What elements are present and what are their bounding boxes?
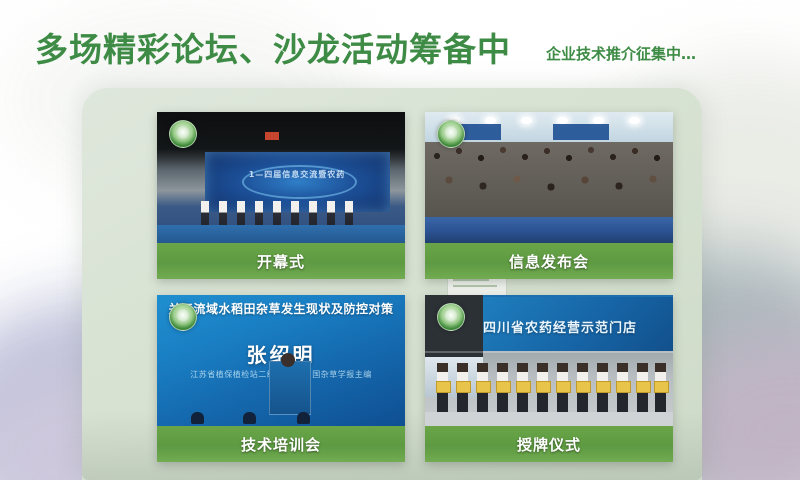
conference-emblem-icon <box>169 120 197 148</box>
conference-emblem-icon <box>169 303 197 331</box>
photo-opening-ceremony: 1—四届信息交流暨农药 <box>157 112 405 243</box>
award-recipients-row <box>425 351 673 413</box>
stage-front-banner <box>157 225 405 243</box>
photo-gallery-grid: 1—四届信息交流暨农药 开幕式 信息发布会 <box>157 112 673 462</box>
gallery-item-plaque-award[interactable]: 四川省农药经营示范门店 授牌仪式 <box>425 295 673 462</box>
conference-emblem-icon <box>437 303 465 331</box>
gallery-caption: 信息发布会 <box>425 243 673 279</box>
page-title: 多场精彩论坛、沙龙活动筹备中 <box>35 28 511 72</box>
stage-floor <box>425 412 673 426</box>
projected-slide-title: 关江流域水稻田杂草发生现状及防控对策 <box>165 301 397 317</box>
stage-people-row <box>201 199 361 225</box>
audience-head-silhouettes <box>157 410 405 424</box>
photo-plaque-award: 四川省农药经营示范门店 <box>425 295 673 426</box>
lectern <box>269 361 311 415</box>
gallery-caption: 授牌仪式 <box>425 426 673 462</box>
photo-information-release <box>425 112 673 243</box>
page-subtitle: 企业技术推介征集中… <box>546 42 696 66</box>
gallery-caption: 开幕式 <box>157 243 405 279</box>
led-screen-text: 1—四届信息交流暨农药 <box>209 169 385 180</box>
slide-header: 多场精彩论坛、沙龙活动筹备中 企业技术推介征集中… <box>0 28 800 80</box>
stage-banner-text: 四川省农药经营示范门店 <box>483 317 673 336</box>
gallery-item-technical-training[interactable]: 关江流域水稻田杂草发生现状及防控对策 张绍明 江苏省植保植检站二级研究员 中国杂… <box>157 295 405 462</box>
gallery-item-opening-ceremony[interactable]: 1—四届信息交流暨农药 开幕式 <box>157 112 405 279</box>
speaker-silhouette <box>281 353 295 367</box>
gallery-item-information-release[interactable]: 信息发布会 <box>425 112 673 279</box>
audience-crowd <box>425 142 673 220</box>
photo-technical-training: 关江流域水稻田杂草发生现状及防控对策 张绍明 江苏省植保植检站二级研究员 中国杂… <box>157 295 405 426</box>
conference-emblem-icon <box>437 120 465 148</box>
hall-signage-right <box>553 124 609 140</box>
seating-rail <box>425 217 673 243</box>
exit-sign-icon <box>265 132 279 140</box>
gallery-caption: 技术培训会 <box>157 426 405 462</box>
